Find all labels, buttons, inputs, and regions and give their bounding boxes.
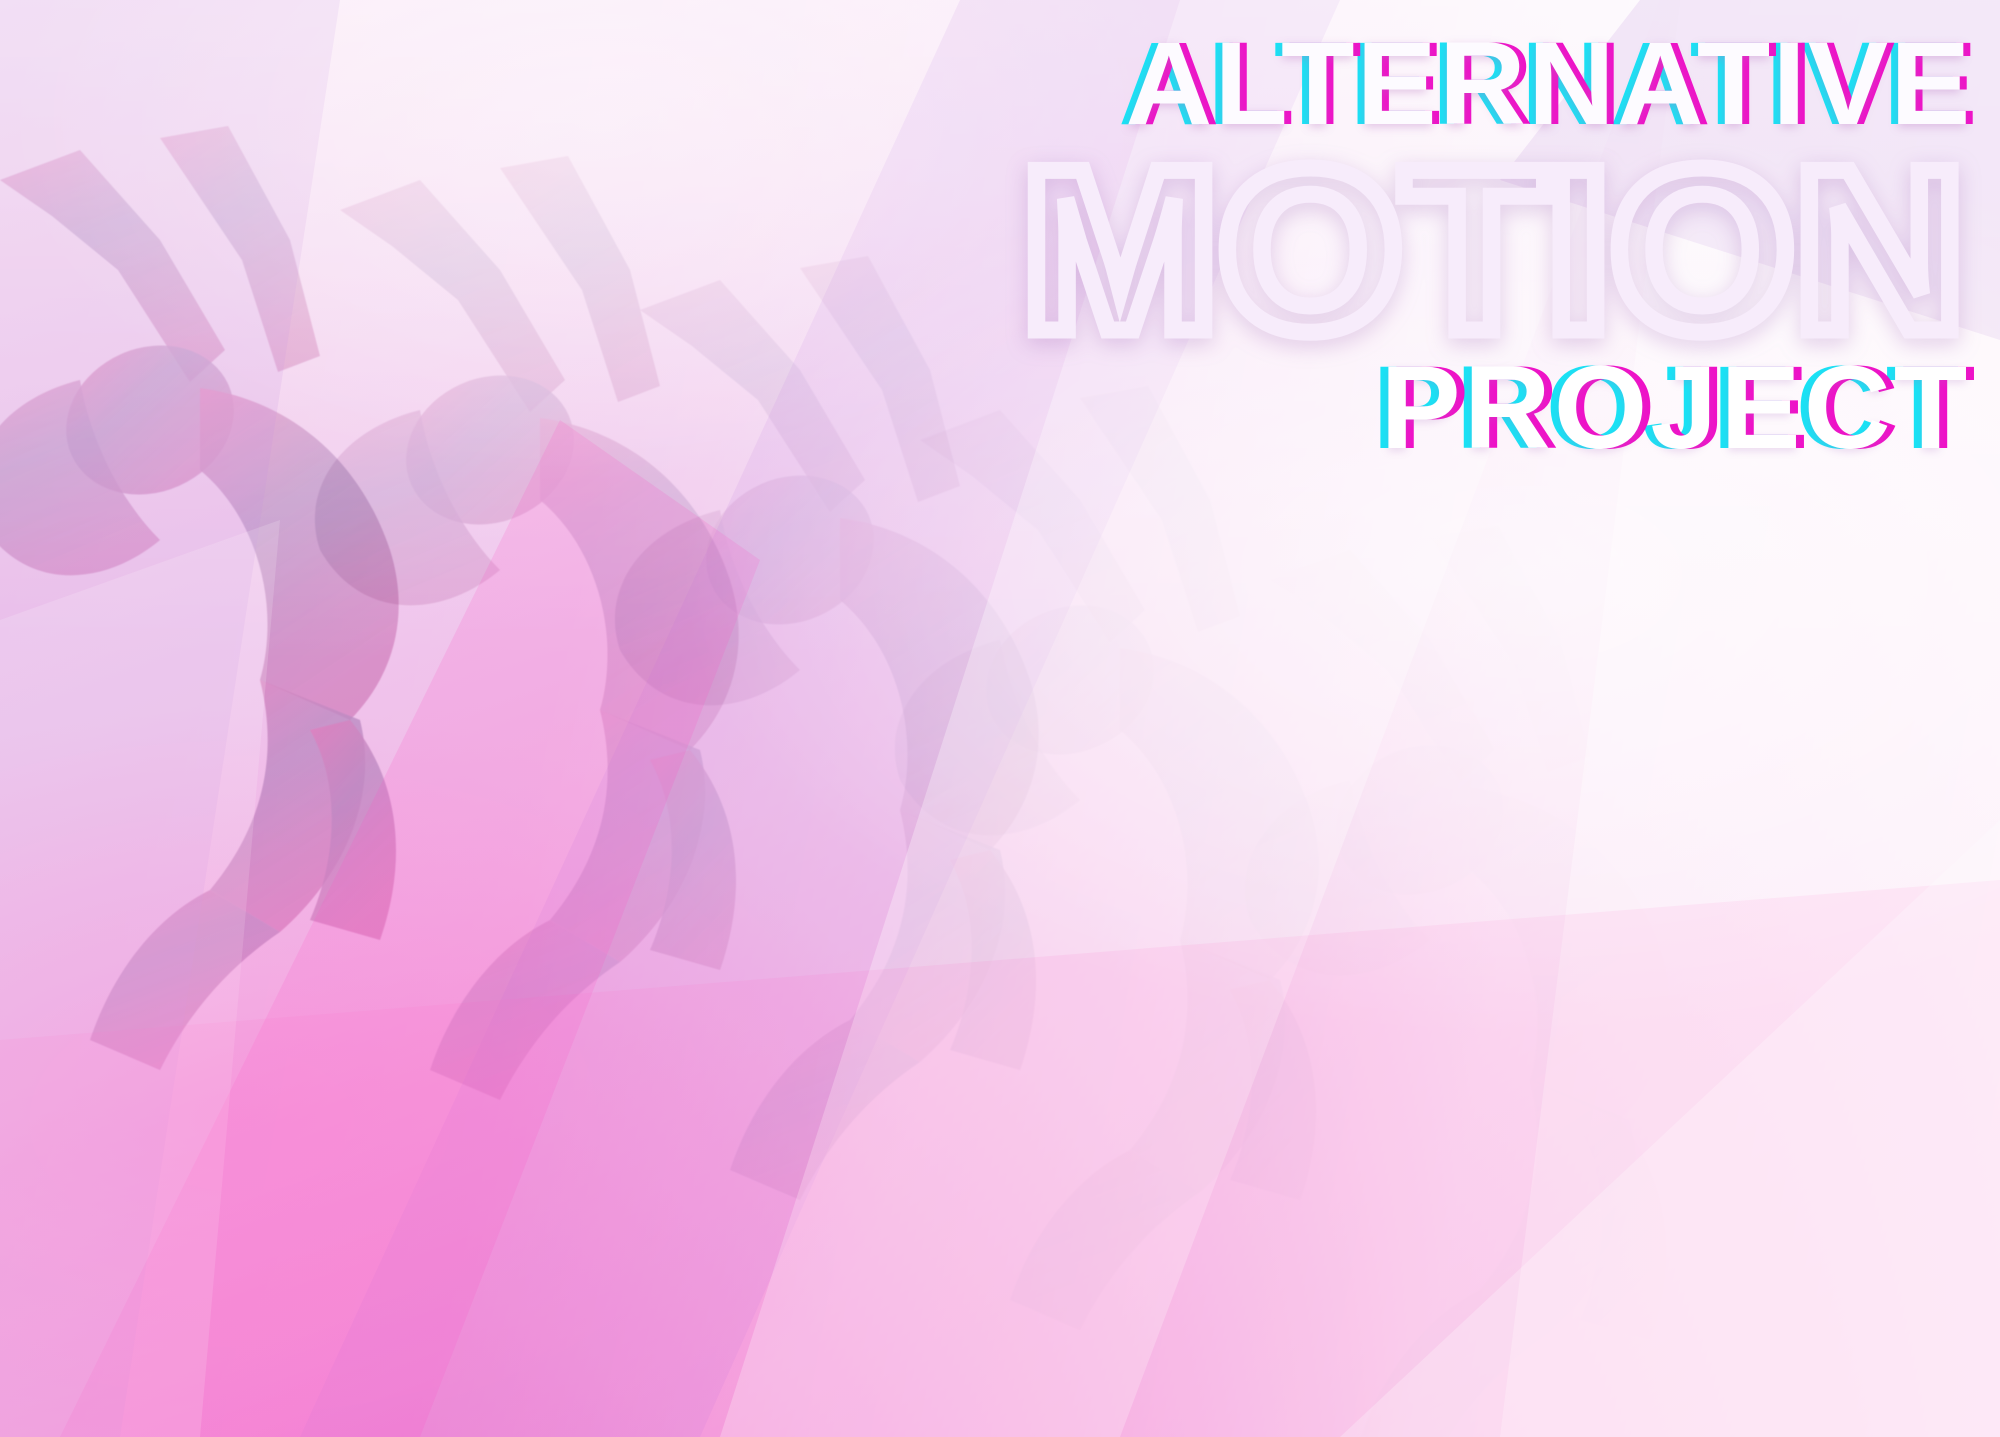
project-text: PROJECT	[1380, 354, 1970, 463]
title-line-project: PROJECT PROJECT PROJECT	[420, 354, 1980, 464]
poster-canvas: ALTERNATIVE ALTERNATIVE ALTERNATIVE MOTI…	[0, 0, 2000, 1437]
title-line-motion: MOTION MOTION	[420, 144, 1980, 344]
poster-title-block: ALTERNATIVE ALTERNATIVE ALTERNATIVE MOTI…	[420, 30, 1980, 464]
motion-inner-text: MOTION	[1021, 144, 1964, 357]
